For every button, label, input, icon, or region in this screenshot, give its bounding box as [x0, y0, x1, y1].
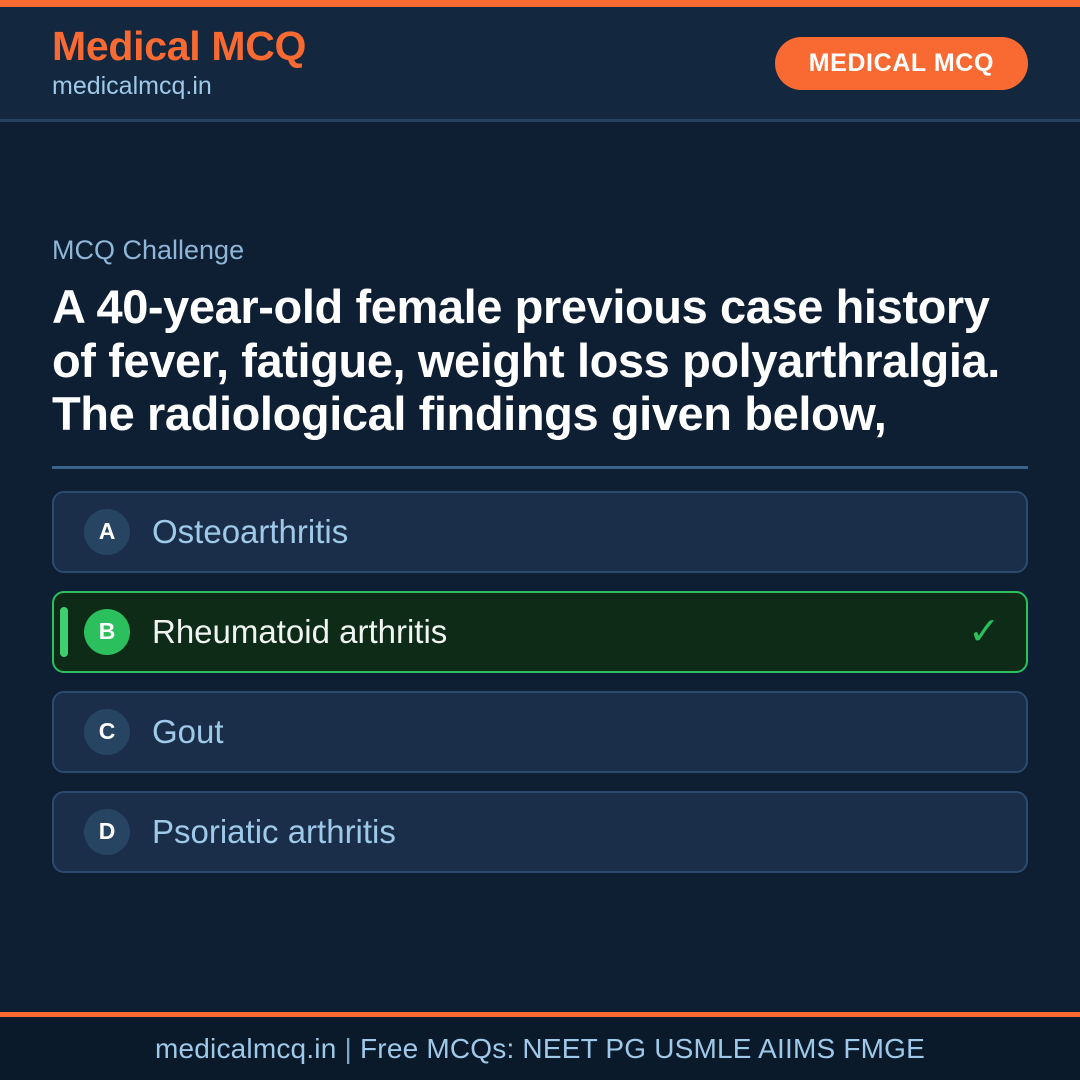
option-a[interactable]: A Osteoarthritis ✓ [52, 491, 1028, 573]
options-list: A Osteoarthritis ✓ B Rheumatoid arthriti… [52, 491, 1028, 873]
option-label: Rheumatoid arthritis [152, 614, 954, 650]
check-icon: ✓ [968, 613, 1000, 651]
option-letter-badge: D [84, 809, 130, 855]
correct-accent-bar [60, 607, 68, 657]
top-accent-strip [0, 0, 1080, 7]
brand-website: medicalmcq.in [52, 71, 306, 102]
kicker-label: MCQ Challenge [52, 234, 1028, 266]
question-divider [52, 466, 1028, 469]
option-letter-badge: C [84, 709, 130, 755]
header-badge: MEDICAL MCQ [775, 37, 1028, 90]
option-c[interactable]: C Gout ✓ [52, 691, 1028, 773]
brand-title: Medical MCQ [52, 24, 306, 68]
footer-text: medicalmcq.in|Free MCQs: NEET PG USMLE A… [155, 1033, 925, 1065]
question-text: A 40-year-old female previous case histo… [52, 280, 1028, 439]
option-label: Psoriatic arthritis [152, 814, 954, 850]
option-label: Osteoarthritis [152, 514, 954, 550]
option-d[interactable]: D Psoriatic arthritis ✓ [52, 791, 1028, 873]
option-b[interactable]: B Rheumatoid arthritis ✓ [52, 591, 1028, 673]
mcq-card: Medical MCQ medicalmcq.in MEDICAL MCQ MC… [0, 0, 1080, 1080]
option-letter-badge: A [84, 509, 130, 555]
option-letter-badge: B [84, 609, 130, 655]
footer: medicalmcq.in|Free MCQs: NEET PG USMLE A… [0, 1017, 1080, 1080]
footer-site: medicalmcq.in [155, 1033, 337, 1064]
header: Medical MCQ medicalmcq.in MEDICAL MCQ [0, 7, 1080, 122]
footer-separator: | [337, 1033, 360, 1064]
option-label: Gout [152, 714, 954, 750]
footer-tagline: Free MCQs: NEET PG USMLE AIIMS FMGE [360, 1033, 925, 1064]
brand-block: Medical MCQ medicalmcq.in [52, 24, 306, 102]
main-content: MCQ Challenge A 40-year-old female previ… [0, 122, 1080, 1012]
